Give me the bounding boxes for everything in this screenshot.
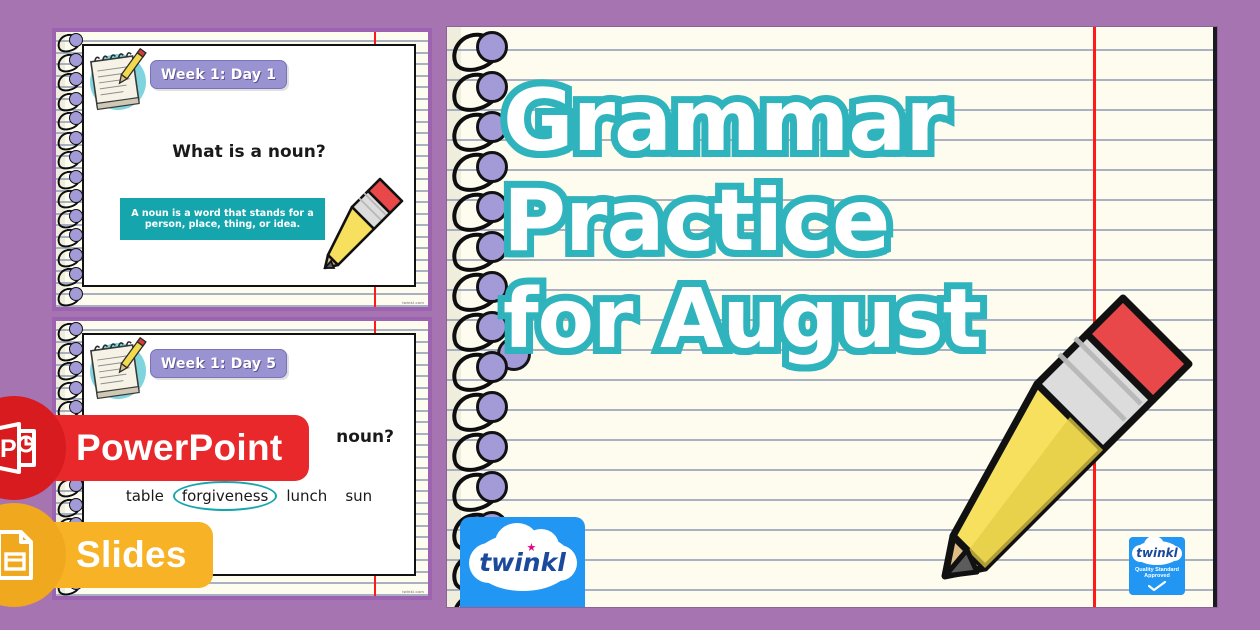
powerpoint-label: PowerPoint: [76, 427, 283, 469]
binding-strip: [447, 27, 461, 607]
check-icon: [1148, 581, 1166, 591]
twinkl-wordmark: twinkl: [479, 548, 566, 577]
slide-question-1: What is a noun?: [84, 142, 414, 162]
twinkl-star-icon: ★: [527, 541, 537, 554]
thumbnail-slide-1[interactable]: Week 1: Day 1 What is a noun? A noun is …: [52, 28, 432, 311]
resource-preview-canvas: Grammar Practice for August: [0, 0, 1260, 630]
thumb2-watermark: twinkl.com: [402, 589, 424, 594]
qsa-line-2: Approved: [1135, 574, 1179, 580]
notepad-pencil-icon: [86, 48, 160, 114]
noun-word-choices: tableforgivenesslunchsun: [84, 487, 414, 505]
noun-word-option[interactable]: table: [126, 487, 164, 505]
week-day-label-2: Week 1: Day 5: [161, 356, 276, 372]
thumb1-binding-strip: [56, 32, 65, 307]
rule-line: [56, 594, 428, 596]
svg-text:P: P: [0, 435, 17, 463]
week-day-badge-2: Week 1: Day 5: [150, 349, 287, 378]
rule-line: [447, 49, 1213, 51]
noun-word-option[interactable]: forgiveness: [182, 487, 269, 505]
thumb1-pencil-icon: [322, 175, 408, 271]
cover-title: Grammar Practice for August: [503, 79, 1063, 376]
noun-word-option[interactable]: sun: [345, 487, 372, 505]
format-badge-powerpoint[interactable]: PowerPoint P: [0, 415, 309, 481]
week-day-badge-1: Week 1: Day 1: [150, 60, 287, 89]
slides-label: Slides: [76, 534, 187, 576]
thumb1-slide-area: Week 1: Day 1 What is a noun? A noun is …: [82, 44, 416, 287]
noun-definition-box: A noun is a word that stands for a perso…: [120, 198, 325, 240]
week-day-label-1: Week 1: Day 1: [161, 67, 276, 83]
rule-line: [56, 40, 428, 42]
noun-word-option[interactable]: lunch: [286, 487, 327, 505]
main-cover-notebook: Grammar Practice for August: [447, 27, 1217, 607]
rule-line: [56, 305, 428, 307]
rule-line: [56, 329, 428, 331]
title-line-3: for August: [503, 280, 1063, 360]
thumb1-watermark: twinkl.com: [402, 300, 424, 305]
notepad-pencil-icon-2: [86, 337, 160, 403]
noun-definition-text: A noun is a word that stands for a perso…: [120, 208, 325, 230]
title-line-1: Grammar: [503, 79, 1063, 163]
format-badge-slides[interactable]: Slides: [0, 522, 213, 588]
quality-standard-badge: twinkl Quality Standard Approved: [1129, 537, 1185, 595]
qsa-wordmark: twinkl: [1136, 546, 1178, 560]
twinkl-logo: twinkl ★: [460, 517, 585, 607]
title-line-2: Practice: [503, 179, 1063, 263]
rule-line: [56, 293, 428, 295]
